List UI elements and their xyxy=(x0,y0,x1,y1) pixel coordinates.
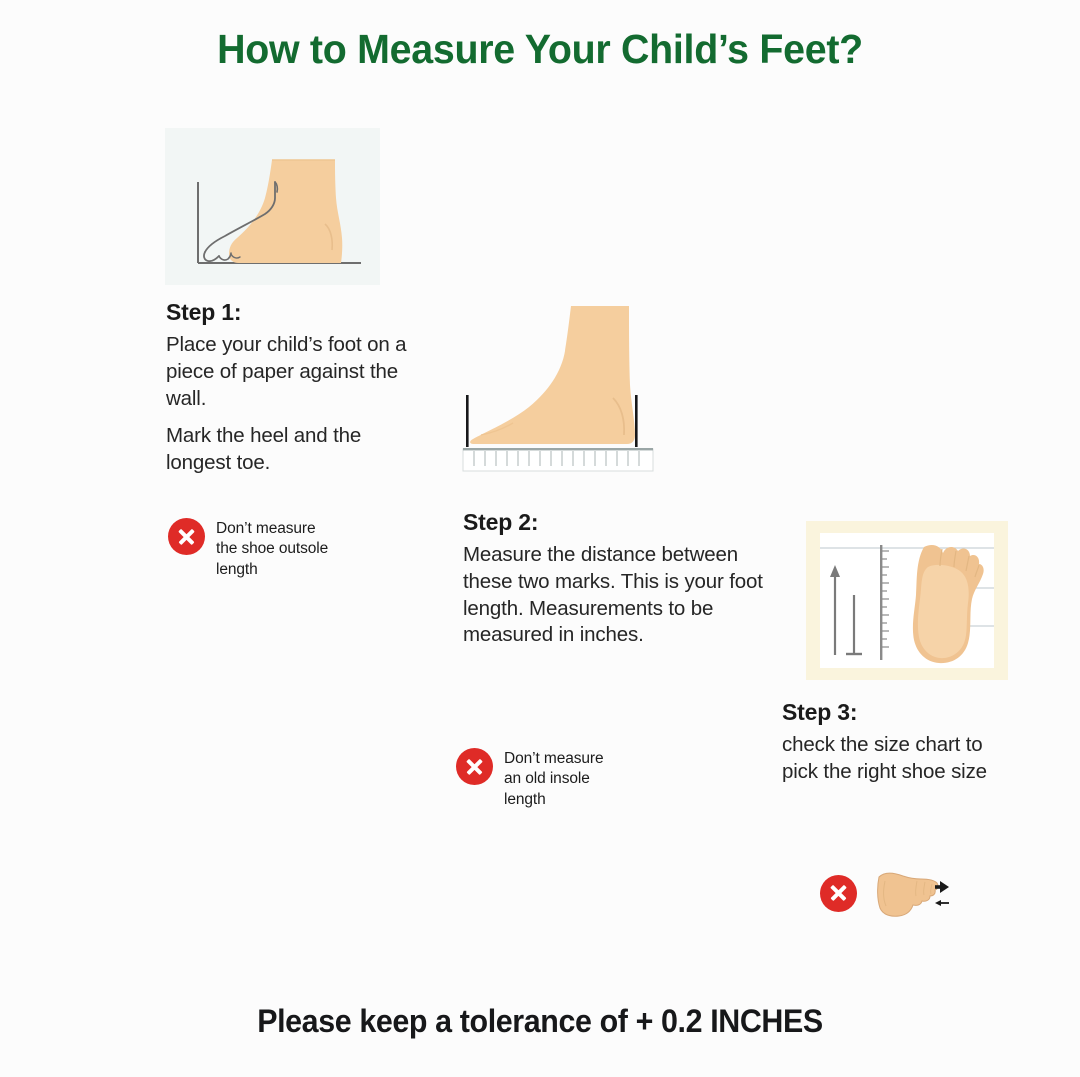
tolerance-note: Please keep a tolerance of + 0.2 INCHES xyxy=(27,1003,1053,1040)
step2-warning-text: Don’t measure an old insole length xyxy=(504,748,604,810)
red-x-circle-icon xyxy=(168,518,205,555)
step1-warning-text: Don’t measure the shoe outsole length xyxy=(216,518,328,580)
step2-warning-line-2: an old insole xyxy=(504,769,604,789)
step2-warning-line-3: length xyxy=(504,790,604,810)
step3-card-inner xyxy=(820,533,994,668)
step2-illustration xyxy=(455,303,670,481)
page-title: How to Measure Your Child’s Feet? xyxy=(22,26,1059,73)
step2-paragraph-1: Measure the distance between these two m… xyxy=(463,542,773,649)
foot-sole-size-chart-illustration xyxy=(820,533,994,668)
step3-heading: Step 3: xyxy=(782,700,1022,725)
step1-text-block: Step 1: Place your child’s foot on a pie… xyxy=(166,300,411,477)
foot-on-ruler-illustration xyxy=(455,303,670,481)
step2-heading: Step 2: xyxy=(463,510,773,535)
step1-warning-line-1: Don’t measure xyxy=(216,519,328,539)
red-x-circle-icon xyxy=(820,875,857,912)
step3-text-block: Step 3: check the size chart to pick the… xyxy=(782,700,1022,786)
step2-warning: Don’t measure an old insole length xyxy=(456,748,656,810)
step1-paragraph-1: Place your child’s foot on a piece of pa… xyxy=(166,332,411,412)
foot-width-arrows-icon xyxy=(873,865,949,921)
step1-illustration xyxy=(165,128,380,285)
step1-body: Place your child’s foot on a piece of pa… xyxy=(166,332,411,476)
step1-warning-line-3: length xyxy=(216,560,328,580)
step3-illustration xyxy=(806,521,1008,680)
step3-body: check the size chart to pick the right s… xyxy=(782,732,1022,785)
step2-text-block: Step 2: Measure the distance between the… xyxy=(463,510,773,649)
step1-heading: Step 1: xyxy=(166,300,411,325)
step1-paragraph-2: Mark the heel and the longest toe. xyxy=(166,423,411,476)
step2-body: Measure the distance between these two m… xyxy=(463,542,773,649)
foot-against-wall-illustration xyxy=(165,128,380,285)
step3-warning xyxy=(820,865,949,921)
step1-warning: Don’t measure the shoe outsole length xyxy=(168,518,383,580)
step2-warning-line-1: Don’t measure xyxy=(504,749,604,769)
red-x-circle-icon xyxy=(456,748,493,785)
infographic-canvas: How to Measure Your Child’s Feet? Step 1… xyxy=(0,0,1080,1077)
step1-warning-line-2: the shoe outsole xyxy=(216,539,328,559)
step3-paragraph-1: check the size chart to pick the right s… xyxy=(782,732,1022,785)
